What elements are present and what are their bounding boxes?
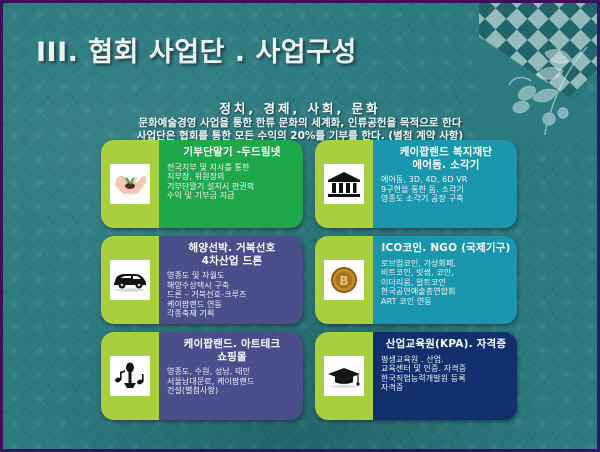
card-title: 산업교육원(KPA). 자격증 <box>381 338 511 351</box>
card-icon-pane: B <box>315 236 373 324</box>
card-body: 케이팝랜드 복지재단 에어돔. 소각기 에어돔, 3D, 4D, 6D VR 9… <box>373 140 517 228</box>
card-title: 케이팝랜드 복지재단 에어돔. 소각기 <box>381 146 511 171</box>
card-icon-pane <box>101 236 159 324</box>
card-title-line: 쇼핑몰 <box>167 351 297 364</box>
card-desc-line: 영종도 및 자월도 <box>167 271 297 281</box>
card-body: ICO코인. NGO (국제기구) 로브업코인, 가상화폐, 비트코인, 빗썸,… <box>373 236 517 324</box>
card-title-line: 4차산업 드론 <box>167 255 297 268</box>
card-description: 전국지부 및 지사를 통한 지부장, 위원장의 기부단말기 설치시 판권의 수익… <box>167 163 297 201</box>
card-desc-line: 평생교육원 . 산업. <box>381 355 511 365</box>
bank-building-icon <box>324 164 364 204</box>
hands-seedling-icon <box>110 164 150 204</box>
card-desc-line: 자격증 <box>381 383 511 393</box>
card-desc-line: 케이팝랜드 연동 <box>167 300 297 310</box>
card-desc-line: 한국공연예술총연합회 <box>381 287 511 297</box>
music-note-microphone-icon <box>110 356 150 396</box>
card-desc-line: 전국지부 및 지사를 통한 <box>167 163 297 173</box>
card-desc-line: 비트코인, 빗썸, 코인, <box>381 268 511 278</box>
card-title: 케이팝랜드. 아트테크 쇼핑몰 <box>167 338 297 363</box>
card-title-line: 해양선박. 거북선호 <box>167 242 297 255</box>
page-title: III. 협회 사업단 . 사업구성 <box>36 30 357 69</box>
card-desc-line: 건설(별첨사항) <box>167 386 297 396</box>
card-desc-line: 영종도, 수원, 성남, 태안 <box>167 367 297 377</box>
card-desc-line: 드론 – 거북선호-크루즈 <box>167 290 297 300</box>
svg-text:B: B <box>339 274 348 288</box>
card-desc-line: 지부장, 위원장의 <box>167 172 297 182</box>
card-desc-line: 교육센터 및 인증. 자격증 <box>381 364 511 374</box>
graduation-cap-icon <box>324 356 364 396</box>
card-desc-line: 에어돔, 3D, 4D, 6D VR <box>381 175 511 185</box>
subtitle-heading: 정치, 경제, 사회, 문화 <box>3 98 597 117</box>
card-desc-line: 기부단말기 설치시 판권의 <box>167 182 297 192</box>
card-body: 기부단말기 -두드림넷 전국지부 및 지사를 통한 지부장, 위원장의 기부단말… <box>159 140 303 228</box>
card-desc-line: ART 코인 연동 <box>381 297 511 307</box>
card-desc-line: 9구현을 통한 돔. 소각기 <box>381 185 511 195</box>
card-icon-pane <box>315 140 373 228</box>
card-desc-line: 한국직업능력개발원 등록 <box>381 374 511 384</box>
subtitle-block: 정치, 경제, 사회, 문화 문화예술경영 사업을 통한 한류 문화의 세계화,… <box>3 98 597 143</box>
card-donation-terminal[interactable]: 기부단말기 -두드림넷 전국지부 및 지사를 통한 지부장, 위원장의 기부단말… <box>101 140 303 228</box>
card-title: ICO코인. NGO (국제기구) <box>381 242 511 255</box>
card-description: 영종도, 수원, 성남, 태안 서울남대문로, 케이팝랜드 건설(별첨사항) <box>167 367 297 396</box>
card-icon-pane <box>315 332 373 420</box>
card-desc-line: 수익 및 기부금 지급 <box>167 191 297 201</box>
card-title-line: 케이팝랜드. 아트테크 <box>167 338 297 351</box>
card-ico-coin-ngo[interactable]: B ICO코인. NGO (국제기구) 로브업코인, 가상화폐, 비트코인, 빗… <box>315 236 517 324</box>
car-icon <box>110 260 150 300</box>
card-welfare-foundation[interactable]: 케이팝랜드 복지재단 에어돔. 소각기 에어돔, 3D, 4D, 6D VR 9… <box>315 140 517 228</box>
card-title: 해양선박. 거북선호 4차산업 드론 <box>167 242 297 267</box>
card-desc-line: 이더리움, 알트코인 <box>381 278 511 288</box>
card-description: 로브업코인, 가상화폐, 비트코인, 빗썸, 코인, 이더리움, 알트코인 한국… <box>381 259 511 307</box>
card-description: 영종도 및 자월도 해양수상택시 구축 드론 – 거북선호-크루즈 케이팝랜드 … <box>167 271 297 319</box>
card-desc-line: 영종도 소각기 공장 구축 <box>381 194 511 204</box>
card-desc-line: 서울남대문로, 케이팝랜드 <box>167 377 297 387</box>
card-kpopland-arttech[interactable]: 케이팝랜드. 아트테크 쇼핑몰 영종도, 수원, 성남, 태안 서울남대문로, … <box>101 332 303 420</box>
card-desc-line: 로브업코인, 가상화폐, <box>381 259 511 269</box>
card-body: 케이팝랜드. 아트테크 쇼핑몰 영종도, 수원, 성남, 태안 서울남대문로, … <box>159 332 303 420</box>
subtitle-line-1: 문화예술경영 사업을 통한 한류 문화의 세계화, 인류공헌을 목적으로 한다 <box>3 117 597 130</box>
card-title-line: 케이팝랜드 복지재단 <box>381 146 511 159</box>
card-description: 평생교육원 . 산업. 교육센터 및 인증. 자격증 한국직업능력개발원 등록 … <box>381 355 511 393</box>
card-title: 기부단말기 -두드림넷 <box>167 146 297 159</box>
bitcoin-coin-icon: B <box>324 260 364 300</box>
card-body: 해양선박. 거북선호 4차산업 드론 영종도 및 자월도 해양수상택시 구축 드… <box>159 236 303 324</box>
card-description: 에어돔, 3D, 4D, 6D VR 9구현을 통한 돔. 소각기 영종도 소각… <box>381 175 511 204</box>
card-icon-pane <box>101 332 159 420</box>
presentation-slide: III. 협회 사업단 . 사업구성 정치, 경제, 사회, 문화 문화예술경영… <box>0 0 600 452</box>
card-desc-line: 각종축제 기획 <box>167 309 297 319</box>
business-card-grid: 기부단말기 -두드림넷 전국지부 및 지사를 통한 지부장, 위원장의 기부단말… <box>101 140 517 420</box>
card-desc-line: 해양수상택시 구축 <box>167 281 297 291</box>
card-marine-vessel-drone[interactable]: 해양선박. 거북선호 4차산업 드론 영종도 및 자월도 해양수상택시 구축 드… <box>101 236 303 324</box>
card-title-line: 에어돔. 소각기 <box>381 159 511 172</box>
card-icon-pane <box>101 140 159 228</box>
card-body: 산업교육원(KPA). 자격증 평생교육원 . 산업. 교육센터 및 인증. 자… <box>373 332 517 420</box>
card-industrial-education[interactable]: 산업교육원(KPA). 자격증 평생교육원 . 산업. 교육센터 및 인증. 자… <box>315 332 517 420</box>
